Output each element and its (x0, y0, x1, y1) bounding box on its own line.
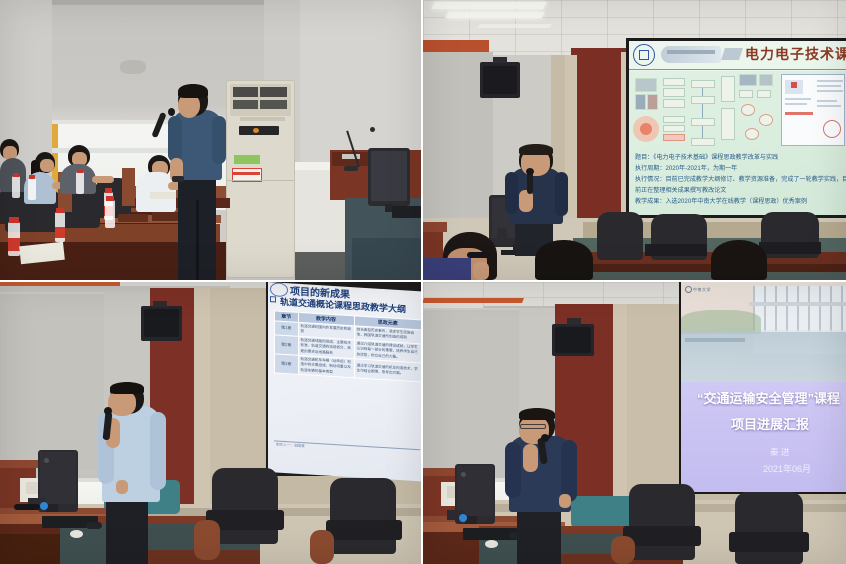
university-seal-icon (685, 286, 692, 293)
water-bottle (28, 178, 36, 200)
cell-chapter: 第1章 (275, 321, 299, 336)
slide-bullet-4: 前正在整理相关成果撰写教改论文 (635, 185, 726, 194)
photo-collage: 电力电子技术课程思政 (0, 0, 846, 564)
slide-presenter-name: 秦 进 (770, 446, 789, 458)
water-bottle (12, 176, 20, 198)
water-bottle (76, 172, 84, 194)
ceiling-light (445, 12, 544, 18)
chair (735, 492, 803, 564)
chair (629, 484, 695, 560)
bullet-square-icon (270, 296, 276, 302)
slide-bullet-2: 执行周期：2020年-2021年，为期一年 (635, 163, 737, 172)
slide-footer: 制作人一：谢国豪 (276, 442, 305, 449)
photo-panel-top-right: 电力电子技术课程思政 (423, 0, 846, 280)
cell-content: 轨道交通机车车辆（动车组）构造中的主要组成、制动设置以及轨道车辆的基本类型 (298, 355, 354, 378)
photo-panel-bottom-left: 项目的新成果 轨道交通概论课程思政教学大纲 章节 教学内容 思政元素 (0, 282, 421, 564)
slide-bullet-5: 教学成果：入选2020年中南大学在线教学（课程思政）优秀案例 (635, 196, 807, 205)
slide-logo: 中南大学 (693, 287, 711, 293)
slide-bullet-3: 执行情况：目前已完成教学大纲修订、教学资源准备，完成了一轮教学实践，目 (635, 174, 846, 183)
mouse (485, 540, 498, 548)
slide-title: 电力电子技术课程思政 (745, 46, 846, 62)
audience-member (711, 240, 767, 280)
chair (330, 478, 396, 554)
cell-element: 通过学习轨道交通的机车构造技术，学生可结合国情，思考出方案。 (354, 359, 421, 382)
slide-title-line2: 项目进展汇报 (731, 414, 846, 433)
audience-member (535, 240, 593, 280)
glasses-icon (520, 424, 546, 429)
mouse (70, 530, 83, 538)
water-bottle (105, 200, 115, 228)
photo-panel-top-left (0, 0, 421, 280)
chair (597, 212, 643, 260)
slide-title-line1: “交通运输安全管理”课程 (697, 388, 846, 407)
cell-chapter: 第3章 (275, 354, 299, 375)
ceiling-light (431, 2, 547, 9)
slide-bullet-1: 题目：《电力电子技术基础》课程思政教学改革与实践 (635, 152, 778, 161)
chair (212, 468, 278, 544)
cell-chapter: 第2章 (275, 335, 299, 356)
handheld-microphone (527, 172, 533, 194)
photo-panel-bottom-right: 中南大学 “交通运输安全管理”课程 项目进展汇报 秦 进 2021年06月 (423, 282, 846, 564)
slide-date: 2021年06月 (763, 462, 811, 475)
syllabus-table: 章节 教学内容 思政元素 第1章 轨道交通的国内外发展历史和趋势 结合典型历史事… (274, 310, 421, 382)
